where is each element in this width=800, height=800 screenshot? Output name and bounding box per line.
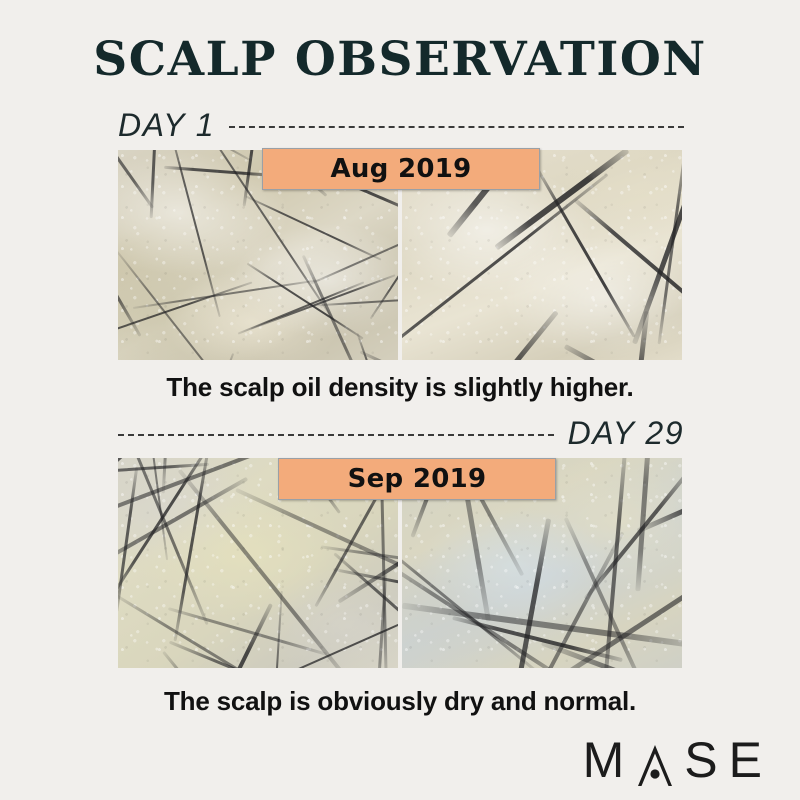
hair-strand [669,295,682,360]
hair-strand [334,568,398,621]
triangle-dot-icon [635,743,675,785]
hair-strand [118,215,142,338]
hair-strand [186,353,235,360]
hair-strand [265,591,284,668]
month-badge-sep: Sep 2019 [278,458,556,500]
dashed-divider-1 [229,126,684,128]
caption-1: The scalp oil density is slightly higher… [0,372,800,403]
day-label-2: DAY 29 [568,417,684,449]
hair-strand [167,150,221,317]
hair-strand [118,594,322,668]
hair-strand [431,310,559,360]
hair-strand [310,218,398,285]
day-row-2: DAY 29 [118,413,684,453]
caption-2: The scalp is obviously dry and normal. [0,686,800,717]
hair-strand [564,344,682,360]
hair-strand [246,262,363,339]
page-title: SCALP OBSERVATION [0,36,800,83]
month-badge-aug: Aug 2019 [262,148,540,190]
hair-strand [118,150,155,209]
hair-strand [150,150,160,219]
day-row-1: DAY 1 [118,105,684,145]
logo-letter-m: M [583,735,627,785]
hair-strand [118,627,143,668]
hair-strand [118,150,250,160]
hair-strand [118,458,213,603]
logo-letter-s: S [684,735,719,785]
hair-strand [246,195,382,260]
dashed-divider-2 [118,434,554,436]
poster-canvas: SCALP OBSERVATION DAY 1 Aug 2019 The sca… [0,0,800,800]
hair-strand [658,150,682,345]
day-label-1: DAY 1 [118,109,215,141]
hair-strand [632,150,682,345]
logo-letter-e: E [729,735,764,785]
brand-logo: M S E [583,733,764,785]
